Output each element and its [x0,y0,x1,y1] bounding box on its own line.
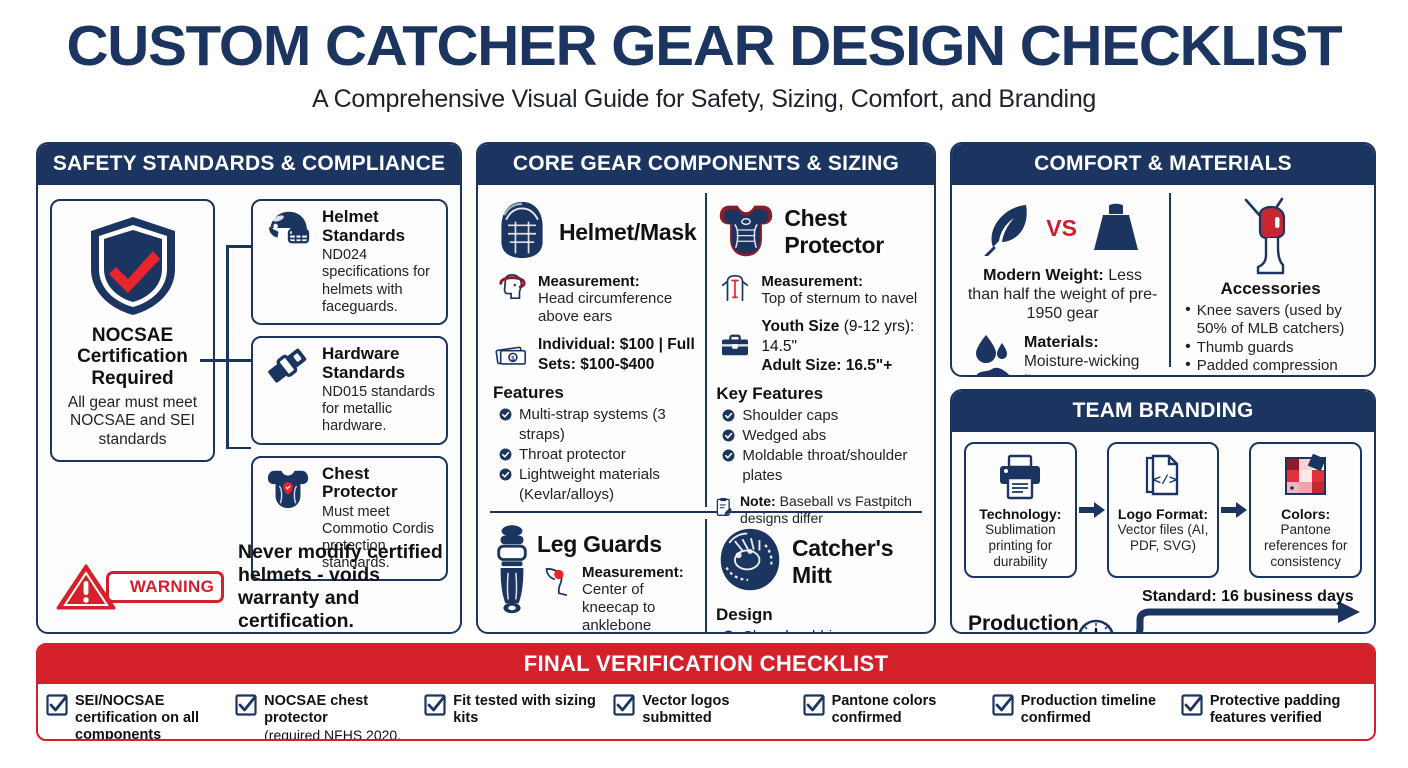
panel-safety-body: NOCSAE Certification Required All gear m… [38,185,460,634]
checklist-item[interactable]: Protective padding features verified [1181,693,1366,741]
mitt-design-label: Design [716,605,919,625]
check-circle-icon [499,408,512,421]
panel-team-branding: TEAM BRANDING [950,389,1376,634]
vector-file-icon: </> [1141,451,1185,503]
shield-check-icon [87,215,179,317]
accessories-list: •Knee savers (used by 50% of MLB catcher… [1181,302,1360,377]
chest-protector-icon [262,465,314,511]
final-checklist-items: SEI/NOCSAE certification on all componen… [38,684,1374,741]
leg-guard-icon [493,523,531,634]
water-drop-foam-icon [972,333,1016,377]
gear-title: Chest Protector [784,205,919,259]
list-item: Throat protector [493,445,696,465]
helmet-measurement: Measurement: Head circumference above ea… [493,273,696,326]
accessory-text: Thumb guards [1197,339,1294,357]
chest-protector-large-icon [716,200,776,265]
standard-desc: ND015 standards for metallic hardware. [322,384,437,435]
svg-text:$: $ [511,355,515,362]
feature-text: Lightweight materials (Kevlar/alloys) [519,465,696,505]
check-circle-icon [722,429,735,442]
panel-core-gear: CORE GEAR COMPONENTS & SIZING [476,142,936,634]
panel-safety-heading: SAFETY STANDARDS & COMPLIANCE [38,144,460,185]
warning-badge: WARNING [56,564,226,610]
weight-icon [1089,202,1143,254]
checklist-item[interactable]: Production timeline confirmed [992,693,1177,741]
list-item: Wedged abs [716,426,919,446]
column-safety: SAFETY STANDARDS & COMPLIANCE [36,142,462,634]
note-label: Note: [740,493,776,509]
checklist-text: Protective padding features verified [1210,693,1366,727]
checklist-text: Vector logos submitted [642,693,798,727]
flow-desc: Sublimation printing for durability [970,522,1071,569]
infographic-page: CUSTOM CATCHER GEAR DESIGN CHECKLIST A C… [0,0,1408,768]
checklist-text: NOCSAE chest protector (required NFHS 20… [264,693,420,741]
core-gear-top-row: Helmet/Mask [484,193,928,507]
standard-card-helmet[interactable]: Helmet Standards ND024 specifications fo… [251,199,448,325]
checklist-item[interactable]: NOCSAE chest protector (required NFHS 20… [235,693,420,741]
flow-desc: Vector files (AI, PDF, SVG) [1113,522,1214,554]
checkbox-checked-icon[interactable] [424,694,446,716]
checklist-main: Production timeline confirmed [1021,693,1156,726]
final-checklist-heading: FINAL VERIFICATION CHECKLIST [38,645,1374,684]
cert-title: NOCSAE Certification Required [58,325,207,389]
production-standard-label: Standard: 16 business days [1142,588,1354,606]
checklist-item[interactable]: Pantone colors confirmed [803,693,988,741]
accessories-title: Accessories [1181,279,1360,299]
core-gear-bottom-row: Leg Guards [484,519,928,634]
catchers-mitt-icon [716,526,784,599]
feature-text: Shoulder caps [742,406,838,426]
kit-bag-icon [716,333,754,359]
column-core-gear: CORE GEAR COMPONENTS & SIZING [476,142,936,634]
comfort-accessories-group: Accessories •Knee savers (used by 50% of… [1171,193,1370,367]
buckle-hardware-icon [262,345,314,385]
gear-title: Leg Guards [537,531,696,558]
panel-branding-heading: TEAM BRANDING [952,391,1374,432]
bullet-icon: • [1185,357,1191,374]
list-item: •Thumb guards [1185,339,1360,357]
check-circle-icon [722,630,735,634]
flow-box-colors[interactable]: Colors: Pantone references for consisten… [1249,442,1362,578]
measurement-value: Center of kneecap to anklebone (seated) [582,581,696,634]
checklist-text: Pantone colors confirmed [832,693,988,727]
feature-text: Moldable throat/shoulder plates [742,446,919,486]
color-swatch-icon [1280,451,1332,503]
list-item: •Knee savers (used by 50% of MLB catcher… [1185,302,1360,339]
flow-desc: Pantone references for consistency [1255,522,1356,569]
knee-saver-icon [1238,197,1304,275]
checklist-main: Fit tested with sizing kits [453,693,596,726]
feature-text: Closed webbing [742,627,849,634]
gear-chest-protector: Chest Protector [707,193,928,507]
comfort-weight-text: Modern Weight: Less than half the weight… [966,266,1159,324]
material-item: Moisture-wicking liners [1024,352,1159,377]
head-measure-icon [493,273,531,301]
gear-catchers-mitt: Catcher's Mitt Design Closed webbing [707,519,928,634]
check-circle-icon [499,448,512,461]
flow-title: Logo Format: [1118,506,1208,522]
checkbox-checked-icon[interactable] [1181,694,1203,716]
checkbox-checked-icon[interactable] [46,694,68,716]
chest-sizes: Youth Size (9-12 yrs): 14.5" Adult Size:… [716,317,919,375]
cert-subtitle: All gear must meet NOCSAE and SEI standa… [58,394,207,450]
svg-text:</>: </> [1153,473,1177,488]
panel-core-gear-heading: CORE GEAR COMPONENTS & SIZING [478,144,934,185]
gear-helmet-mask: Helmet/Mask [484,193,707,507]
warning-text: Never modify certified helmets - voids w… [238,541,448,633]
chest-features-label: Key Features [716,384,919,404]
comfort-weight-group: VS Modern Weight: Less than half the wei… [956,193,1171,367]
accessory-text: Padded compression shirts [1197,357,1360,377]
catchers-helmet-icon [493,199,551,266]
checklist-text: SEI/NOCSAE certification on all componen… [75,693,231,741]
measurement-value: Top of sternum to navel [761,290,919,308]
warning-badge-label: WARNING [106,571,224,603]
helmet-price-text: Individual: $100 | Full Sets: $100-$400 [538,335,696,374]
flow-box-logo-format[interactable]: </> Logo Format: Vector files (AI, PDF, … [1107,442,1220,578]
list-item: Closed webbing [716,627,919,634]
comfort-materials: Materials: Moisture-wicking liners High-… [966,333,1159,377]
panel-branding-body: Technology: Sublimation printing for dur… [952,432,1374,634]
measurement-label: Measurement: [761,273,919,290]
checklist-main: Protective padding features verified [1210,693,1341,726]
page-subtitle: A Comprehensive Visual Guide for Safety,… [0,85,1408,114]
helmet-icon [262,208,314,248]
mitt-features-list: Closed webbing Deep pocket Extra palm pa… [716,627,919,634]
panels-grid: SAFETY STANDARDS & COMPLIANCE [36,142,1376,634]
warning-row: WARNING Never modify certified helmets -… [50,541,448,633]
panel-comfort-heading: COMFORT & MATERIALS [952,144,1374,185]
adult-size-label: Adult Size: [761,357,841,374]
checkbox-checked-icon[interactable] [235,694,257,716]
measurement-label: Measurement: [582,564,696,581]
chest-measurement: Measurement: Top of sternum to navel [716,273,919,308]
gear-leg-guards: Leg Guards [484,519,707,634]
check-circle-icon [722,449,735,462]
checklist-item[interactable]: Fit tested with sizing kits [424,693,609,741]
checklist-main: Vector logos submitted [642,693,729,726]
flow-title: Colors: [1281,506,1330,522]
column-comfort-branding: COMFORT & MATERIALS VS [950,142,1376,634]
checkbox-checked-icon[interactable] [992,694,1014,716]
adult-size-line: Adult Size: 16.5"+ [761,356,919,375]
feature-text: Throat protector [519,445,626,465]
checklist-text: Fit tested with sizing kits [453,693,609,727]
panel-safety-standards: SAFETY STANDARDS & COMPLIANCE [36,142,462,634]
checklist-main: SEI/NOCSAE certification on all componen… [75,693,199,741]
branding-flow: Technology: Sublimation printing for dur… [964,442,1362,578]
list-item: Moldable throat/shoulder plates [716,446,919,486]
warning-triangle-icon [56,564,116,610]
feature-text: Multi-strap systems (3 straps) [519,405,696,445]
youth-size-line: Youth Size (9-12 yrs): 14.5" [761,317,919,356]
panel-comfort-body: VS Modern Weight: Less than half the wei… [952,185,1374,375]
production-time-group: Production Time [964,590,1362,634]
vs-label: VS [1046,215,1077,242]
checklist-text: Production timeline confirmed [1021,693,1177,727]
standard-card-hardware[interactable]: Hardware Standards ND015 standards for m… [251,336,448,445]
checklist-sub: (required NFHS 2020, NCAA 2021) [264,727,401,741]
youth-size-label: Youth Size [761,318,839,335]
nocsae-certification-card: NOCSAE Certification Required All gear m… [50,199,215,462]
standard-title: Hardware Standards [322,345,437,382]
knee-measure-icon [537,564,575,598]
standard-title: Helmet Standards [322,208,437,245]
feather-icon [982,200,1034,256]
printer-icon [996,451,1044,503]
list-item: •Padded compression shirts [1185,357,1360,377]
leg-guard-measurement: Measurement: Center of kneecap to ankleb… [537,564,696,634]
helmet-price: $ Individual: $100 | Full Sets: $100-$40… [493,335,696,374]
panel-core-gear-body: Helmet/Mask [478,185,934,634]
checklist-item[interactable]: Vector logos submitted [613,693,798,741]
weight-label: Modern Weight: [983,267,1104,284]
feature-text: Wedged abs [742,426,826,446]
money-icon: $ [493,343,531,366]
helmet-features-list: Multi-strap systems (3 straps) Throat pr… [493,405,696,505]
flow-box-technology[interactable]: Technology: Sublimation printing for dur… [964,442,1077,578]
bullet-icon: • [1185,339,1191,356]
flow-title: Technology: [979,506,1061,522]
flow-arrow-2 [1219,442,1249,578]
standards-stack: Helmet Standards ND024 specifications fo… [251,199,448,519]
adult-size-value: 16.5"+ [846,357,893,374]
chest-features-list: Shoulder caps Wedged abs Moldable throat… [716,406,919,486]
helmet-features-label: Features [493,383,696,403]
gear-title: Catcher's Mitt [792,535,919,589]
final-verification-panel: FINAL VERIFICATION CHECKLIST SEI/NOCSAE … [36,643,1376,741]
checklist-main: NOCSAE chest protector [264,693,368,726]
page-header: CUSTOM CATCHER GEAR DESIGN CHECKLIST A C… [0,0,1408,114]
panel-comfort-materials: COMFORT & MATERIALS VS [950,142,1376,377]
list-item: Multi-strap systems (3 straps) [493,405,696,445]
safety-top-group: NOCSAE Certification Required All gear m… [50,199,448,519]
check-circle-icon [499,468,512,481]
checklist-main: Pantone colors confirmed [832,693,937,726]
flow-arrow-1 [1077,442,1107,578]
connector-lines [215,199,251,519]
checklist-item[interactable]: SEI/NOCSAE certification on all componen… [46,693,231,741]
measurement-label: Measurement: [538,273,696,290]
checkbox-checked-icon[interactable] [803,694,825,716]
accessory-text: Knee savers (used by 50% of MLB catchers… [1197,302,1360,339]
measurement-value: Head circumference above ears [538,290,696,326]
check-circle-icon [722,409,735,422]
standard-title: Chest Protector [322,465,437,502]
checkbox-checked-icon[interactable] [613,694,635,716]
standard-desc: ND024 specifications for helmets with fa… [322,247,437,315]
list-item: Lightweight materials (Kevlar/alloys) [493,465,696,505]
materials-body: Materials: Moisture-wicking liners High-… [1024,333,1159,377]
torso-measure-icon [716,273,754,303]
page-title: CUSTOM CATCHER GEAR DESIGN CHECKLIST [0,18,1408,75]
materials-label: Materials: [1024,334,1099,351]
bullet-icon: • [1185,302,1191,319]
gear-title: Helmet/Mask [559,219,696,246]
list-item: Shoulder caps [716,406,919,426]
clipboard-note-icon [716,493,733,521]
